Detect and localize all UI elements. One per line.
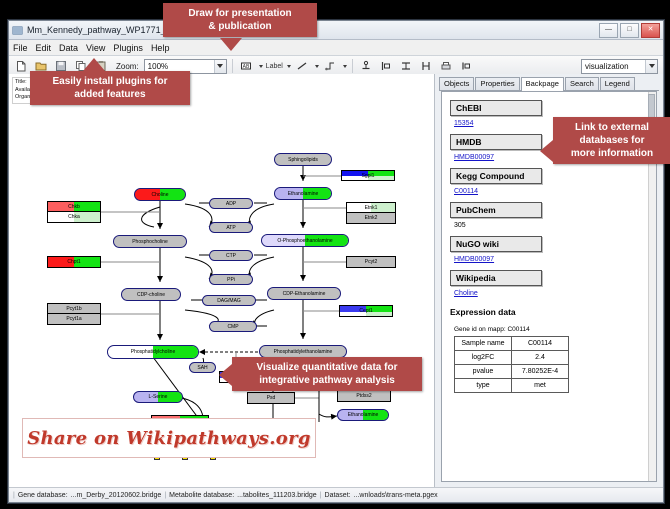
node-sphingolipids[interactable]: Sphingolipids bbox=[274, 153, 332, 166]
callout-visualize-line2: integrative pathway analysis bbox=[239, 374, 415, 387]
node-chpt1[interactable]: Chpt1 bbox=[47, 256, 101, 268]
db-header-pubchem: PubChem bbox=[450, 202, 542, 218]
node-o-phosphoethanolamine[interactable]: O-Phosphoethanolamine bbox=[261, 234, 349, 247]
db-header-hmdb: HMDB bbox=[450, 134, 542, 150]
node-label: Chpt1 bbox=[67, 259, 80, 265]
gene-id-line: Gene id on mapp: C00114 bbox=[454, 326, 648, 333]
callout-links-line3: more information bbox=[560, 147, 664, 160]
toolbar-separator bbox=[232, 59, 233, 73]
node-cmp[interactable]: CMP bbox=[209, 321, 257, 332]
node-label: Chkb bbox=[68, 204, 80, 210]
cell-key: log2FC bbox=[455, 351, 512, 365]
menu-file[interactable]: File bbox=[13, 43, 28, 53]
status-separator-0: | bbox=[13, 492, 15, 499]
callout-links-line1: Link to external bbox=[560, 121, 664, 134]
db-link-nugo-wiki[interactable]: HMDB00097 bbox=[454, 256, 648, 263]
node-l-serine-left[interactable]: L-Serine bbox=[133, 391, 183, 403]
node-label: CTP bbox=[226, 253, 236, 259]
side-panel-tabs: Objects Properties Backpage Search Legen… bbox=[439, 77, 659, 91]
db-value-pubchem: 305 bbox=[454, 222, 648, 229]
app-icon bbox=[12, 25, 23, 36]
cell-value: 7.80252E-4 bbox=[512, 365, 569, 379]
node-cept1[interactable]: Cept1 bbox=[339, 305, 393, 317]
tab-backpage[interactable]: Backpage bbox=[521, 77, 564, 91]
node-label: Sphingolipids bbox=[288, 157, 318, 163]
status-metabolite-database-label: Metabolite database: bbox=[169, 492, 234, 499]
label-button[interactable]: Label bbox=[266, 63, 283, 70]
label-dropdown-icon[interactable] bbox=[287, 65, 291, 68]
visualization-combo[interactable]: visualization bbox=[581, 59, 658, 74]
node-label: Phosphatidylcholine bbox=[131, 349, 175, 355]
node-pcyt1a[interactable]: Pcyt1a bbox=[47, 314, 101, 325]
status-metabolite-database-value: ...tabolites_111203.bridge bbox=[237, 492, 317, 499]
node-label: Pcyt1a bbox=[66, 316, 81, 322]
node-ethanolamine-bottom[interactable]: Ethanolamine bbox=[337, 409, 389, 421]
node-label: Cept1 bbox=[359, 308, 372, 314]
size-icon[interactable] bbox=[458, 58, 475, 75]
cell-value: C00114 bbox=[512, 337, 569, 351]
table-row: Sample name C00114 bbox=[455, 337, 569, 351]
cell-value: met bbox=[512, 379, 569, 393]
node-label: SAH bbox=[197, 365, 207, 371]
node-label: L-Serine bbox=[149, 394, 168, 400]
node-label: Phosphocholine bbox=[132, 239, 168, 245]
node-ethanolamine-top[interactable]: Ethanolamine bbox=[274, 187, 332, 200]
node-label: ATP bbox=[226, 225, 235, 231]
callout-plugins-line1: Easily install plugins for bbox=[37, 75, 183, 88]
new-file-icon[interactable] bbox=[12, 58, 29, 75]
menu-view[interactable]: View bbox=[86, 43, 105, 53]
window-buttons: — □ ✕ bbox=[599, 23, 660, 38]
node-sah[interactable]: SAH bbox=[189, 362, 216, 373]
toolbar-separator-2 bbox=[352, 59, 353, 73]
expression-table: Sample name C00114 log2FC 2.4 pvalue 7.8… bbox=[454, 336, 569, 393]
line-dropdown-icon[interactable] bbox=[315, 65, 319, 68]
status-gene-database-label: Gene database: bbox=[18, 492, 68, 499]
node-choline-top[interactable]: Choline bbox=[134, 188, 186, 201]
datanode-dropdown-icon[interactable] bbox=[259, 65, 263, 68]
print-icon[interactable] bbox=[438, 58, 455, 75]
node-label: O-Phosphoethanolamine bbox=[277, 238, 332, 244]
datanode-icon[interactable]: AB bbox=[238, 58, 255, 75]
node-etnk2[interactable]: Etnk2 bbox=[346, 213, 396, 224]
node-phosphatidylcholine[interactable]: Phosphatidylcholine bbox=[107, 345, 199, 359]
distribute-horizontal-icon[interactable] bbox=[418, 58, 435, 75]
node-chka[interactable]: Chka bbox=[47, 212, 101, 223]
node-cdp-choline[interactable]: CDP-choline bbox=[121, 288, 181, 301]
align-left-icon[interactable] bbox=[378, 58, 395, 75]
interaction-dropdown-icon[interactable] bbox=[343, 65, 347, 68]
callout-draw-line1: Draw for presentation bbox=[170, 7, 310, 20]
callout-draw-arrow bbox=[220, 38, 242, 51]
node-label: Phosphatidylethanolamine bbox=[274, 349, 333, 355]
node-pcyt1b[interactable]: Pcyt1b bbox=[47, 303, 101, 314]
callout-draw: Draw for presentation & publication bbox=[163, 3, 317, 37]
tab-objects[interactable]: Objects bbox=[439, 77, 474, 90]
cell-key: Sample name bbox=[455, 337, 512, 351]
status-bar: | Gene database: ...m_Derby_20120602.bri… bbox=[9, 487, 663, 502]
zoom-label: Zoom: bbox=[116, 62, 139, 71]
callout-links: Link to external databases for more info… bbox=[553, 117, 670, 164]
callout-draw-line2: & publication bbox=[170, 20, 310, 33]
db-link-wikipedia[interactable]: Choline bbox=[454, 290, 648, 297]
menu-plugins[interactable]: Plugins bbox=[113, 43, 143, 53]
node-label: Etnk2 bbox=[365, 215, 378, 221]
node-label: Ethanolamine bbox=[348, 412, 379, 418]
align-top-icon[interactable] bbox=[358, 58, 375, 75]
line-icon[interactable] bbox=[294, 58, 311, 75]
db-link-kegg-compound[interactable]: C00114 bbox=[454, 188, 648, 195]
node-label: Psd bbox=[267, 395, 276, 401]
node-cdp-ethanolamine[interactable]: CDP-Ethanolamine bbox=[267, 287, 341, 300]
callout-visualize-arrow bbox=[219, 364, 232, 386]
node-etnk1[interactable]: Etnk1 bbox=[346, 202, 396, 213]
node-chkb[interactable]: Chkb bbox=[47, 201, 101, 212]
tab-legend[interactable]: Legend bbox=[600, 77, 635, 90]
node-label: Sgpl1 bbox=[362, 173, 375, 179]
node-ppi[interactable]: PPi bbox=[209, 274, 253, 285]
node-label: CDP-choline bbox=[137, 292, 165, 298]
callout-plugins: Easily install plugins for added feature… bbox=[30, 71, 190, 105]
status-separator-1: | bbox=[164, 492, 166, 499]
status-gene-database-value: ...m_Derby_20120602.bridge bbox=[71, 492, 162, 499]
svg-text:AB: AB bbox=[243, 64, 250, 70]
callout-visualize: Visualize quantitative data for integrat… bbox=[232, 357, 422, 391]
db-header-wikipedia: Wikipedia bbox=[450, 270, 542, 286]
share-text: Share on Wikipathways.org bbox=[27, 428, 311, 449]
callout-plugins-line2: added features bbox=[37, 88, 183, 101]
cell-key: pvalue bbox=[455, 365, 512, 379]
cell-value: 2.4 bbox=[512, 351, 569, 365]
node-label: CMP bbox=[227, 324, 238, 330]
visualization-value: visualization bbox=[585, 62, 629, 71]
callout-plugins-arrow bbox=[83, 58, 105, 71]
node-phosphocholine[interactable]: Phosphocholine bbox=[113, 235, 187, 248]
interaction-icon[interactable] bbox=[322, 58, 339, 75]
tab-search[interactable]: Search bbox=[565, 77, 599, 90]
close-button[interactable]: ✕ bbox=[641, 23, 660, 38]
cell-key: type bbox=[455, 379, 512, 393]
expression-data-title: Expression data bbox=[450, 307, 648, 317]
menu-help[interactable]: Help bbox=[151, 43, 170, 53]
node-label: Choline bbox=[152, 192, 169, 198]
node-label: Etnk1 bbox=[365, 205, 378, 211]
node-sgpl1[interactable]: Sgpl1 bbox=[341, 170, 395, 181]
menu-edit[interactable]: Edit bbox=[36, 43, 52, 53]
node-label: DAG/MAG bbox=[217, 298, 241, 304]
node-label: CDP-Ethanolamine bbox=[283, 291, 326, 297]
node-label: Pcyt1b bbox=[66, 306, 81, 312]
table-row: pvalue 7.80252E-4 bbox=[455, 365, 569, 379]
node-adp[interactable]: ADP bbox=[209, 198, 253, 209]
node-label: Ptdss2 bbox=[356, 393, 371, 399]
zoom-value: 100% bbox=[148, 62, 168, 71]
menu-bar: File Edit Data View Plugins Help bbox=[9, 40, 663, 56]
maximize-button[interactable]: □ bbox=[620, 23, 639, 38]
node-label: Pcyt2 bbox=[365, 259, 378, 265]
minimize-button[interactable]: — bbox=[599, 23, 618, 38]
node-ctp[interactable]: CTP bbox=[209, 250, 253, 261]
callout-links-arrow bbox=[540, 140, 553, 162]
node-atp[interactable]: ATP bbox=[209, 222, 253, 233]
callout-share: Share on Wikipathways.org bbox=[22, 418, 316, 458]
status-dataset-label: Dataset: bbox=[325, 492, 351, 499]
db-header-chebi: ChEBI bbox=[450, 100, 542, 116]
title-bar: Mm_Kennedy_pathway_WP1771_45176.gpml — □… bbox=[9, 21, 663, 40]
callout-links-line2: databases for bbox=[560, 134, 664, 147]
node-label: Chka bbox=[68, 214, 80, 220]
node-dag-mag[interactable]: DAG/MAG bbox=[202, 295, 256, 306]
node-label: PPi bbox=[227, 277, 235, 283]
tab-properties[interactable]: Properties bbox=[475, 77, 519, 90]
screenshot-root: Mm_Kennedy_pathway_WP1771_45176.gpml — □… bbox=[0, 0, 670, 509]
status-separator-2: | bbox=[320, 492, 322, 499]
node-ptdss2[interactable]: Ptdss2 bbox=[337, 390, 391, 402]
distribute-vertical-icon[interactable] bbox=[398, 58, 415, 75]
db-header-kegg-compound: Kegg Compound bbox=[450, 168, 542, 184]
node-psd[interactable]: Psd bbox=[247, 392, 295, 404]
table-row: type met bbox=[455, 379, 569, 393]
table-row: log2FC 2.4 bbox=[455, 351, 569, 365]
node-pcyt2[interactable]: Pcyt2 bbox=[346, 256, 396, 268]
callout-visualize-line1: Visualize quantitative data for bbox=[239, 361, 415, 374]
status-dataset-value: ...wnloads\trans-meta.pgex bbox=[354, 492, 438, 499]
db-header-nugo-wiki: NuGO wiki bbox=[450, 236, 542, 252]
menu-data[interactable]: Data bbox=[59, 43, 78, 53]
chevron-down-icon[interactable] bbox=[214, 60, 226, 73]
node-label: ADP bbox=[226, 201, 236, 207]
node-label: Ethanolamine bbox=[288, 191, 319, 197]
visualization-chevron-icon[interactable] bbox=[645, 60, 657, 73]
